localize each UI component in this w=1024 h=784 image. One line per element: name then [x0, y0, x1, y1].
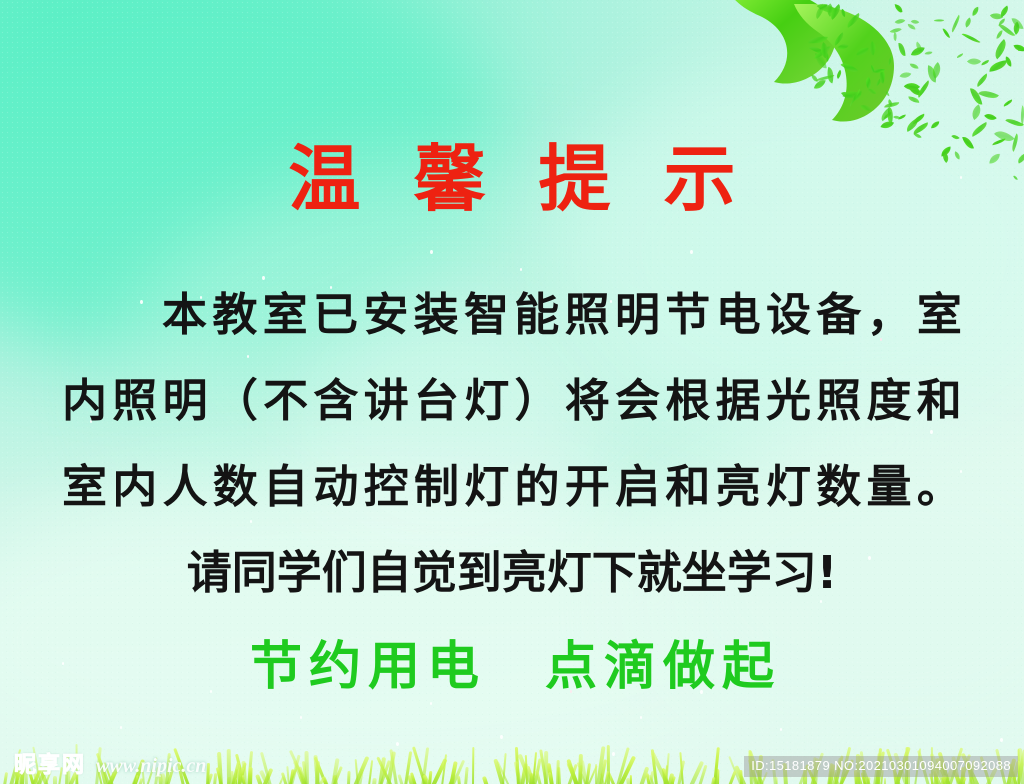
- notice-char: 节: [665, 272, 710, 358]
- notice-char: 内: [112, 444, 157, 530]
- notice-char: 动: [313, 444, 358, 530]
- notice-char: 照: [816, 358, 861, 444]
- notice-char: 不: [263, 358, 308, 444]
- notice-char: 开: [565, 444, 610, 530]
- poster-canvas: 温 馨 提 示 本教室已安装智能照明节电设备，室 内照明（不含讲台灯）将会根据光…: [0, 0, 1024, 784]
- notice-char: 光: [766, 358, 811, 444]
- notice-char: 内: [62, 358, 107, 444]
- notice-char: 和: [917, 358, 962, 444]
- notice-char: 控: [364, 444, 409, 530]
- notice-char: 本: [162, 272, 207, 358]
- notice-char: 灯: [766, 444, 811, 530]
- notice-char: 装: [414, 272, 459, 358]
- notice-char: 设: [766, 272, 811, 358]
- watermark-logo: 昵享网: [14, 754, 86, 778]
- notice-body: 本教室已安装智能照明节电设备，室 内照明（不含讲台灯）将会根据光照度和 室内人数…: [62, 272, 962, 616]
- notice-char: 灯: [464, 444, 509, 530]
- notice-char: 制: [414, 444, 459, 530]
- notice-char: 教: [212, 272, 257, 358]
- notice-char: 和: [665, 444, 710, 530]
- notice-char: 据: [716, 358, 761, 444]
- notice-char: 将: [565, 358, 610, 444]
- notice-char: 讲: [364, 358, 409, 444]
- notice-char: 亮: [716, 444, 761, 530]
- notice-char: 能: [514, 272, 559, 358]
- notice-char: 量: [867, 444, 912, 530]
- image-id-strip: ID:15181879 NO:20210301094007092088: [744, 756, 1018, 777]
- notice-line: 室内人数自动控制灯的开启和亮灯数量。: [62, 444, 962, 530]
- notice-char: 室: [917, 272, 962, 358]
- page-title: 温 馨 提 示: [0, 143, 1024, 215]
- notice-char: ）: [515, 358, 560, 444]
- notice-line: 本教室已安装智能照明节电设备，室: [62, 272, 962, 358]
- watermark-url: www.nipic.cn: [96, 754, 206, 778]
- poster-content: 温 馨 提 示 本教室已安装智能照明节电设备，室 内照明（不含讲台灯）将会根据光…: [0, 0, 1024, 784]
- notice-char: 明: [615, 272, 660, 358]
- notice-char: 。: [917, 444, 962, 530]
- notice-char: 已: [313, 272, 358, 358]
- notice-char: 照: [565, 272, 610, 358]
- notice-char: 明: [163, 358, 208, 444]
- notice-char: 自: [263, 444, 308, 530]
- notice-char: 含: [313, 358, 358, 444]
- notice-char: 数: [816, 444, 861, 530]
- notice-char: 的: [515, 444, 560, 530]
- notice-char: 根: [665, 358, 710, 444]
- notice-char: 照: [112, 358, 157, 444]
- watermark: 昵享网 www.nipic.cn: [14, 754, 206, 778]
- notice-char: 备: [816, 272, 861, 358]
- notice-char: 电: [716, 272, 761, 358]
- notice-line: 请同学们自觉到亮灯下就坐学习!: [62, 530, 962, 616]
- notice-line: 内照明（不含讲台灯）将会根据光照度和: [62, 358, 962, 444]
- notice-char: 会: [615, 358, 660, 444]
- notice-char: 室: [263, 272, 308, 358]
- notice-char: 安: [363, 272, 408, 358]
- notice-char: 智: [464, 272, 509, 358]
- notice-char: 室: [62, 444, 107, 530]
- notice-char: 灯: [464, 358, 509, 444]
- notice-char: 人: [163, 444, 208, 530]
- notice-char: （: [213, 358, 258, 444]
- notice-char: ，: [867, 272, 912, 358]
- notice-char: 启: [615, 444, 660, 530]
- notice-char: 台: [414, 358, 459, 444]
- notice-char: 度: [867, 358, 912, 444]
- slogan-text: 节约用电 点滴做起: [0, 641, 1024, 693]
- notice-char: 数: [213, 444, 258, 530]
